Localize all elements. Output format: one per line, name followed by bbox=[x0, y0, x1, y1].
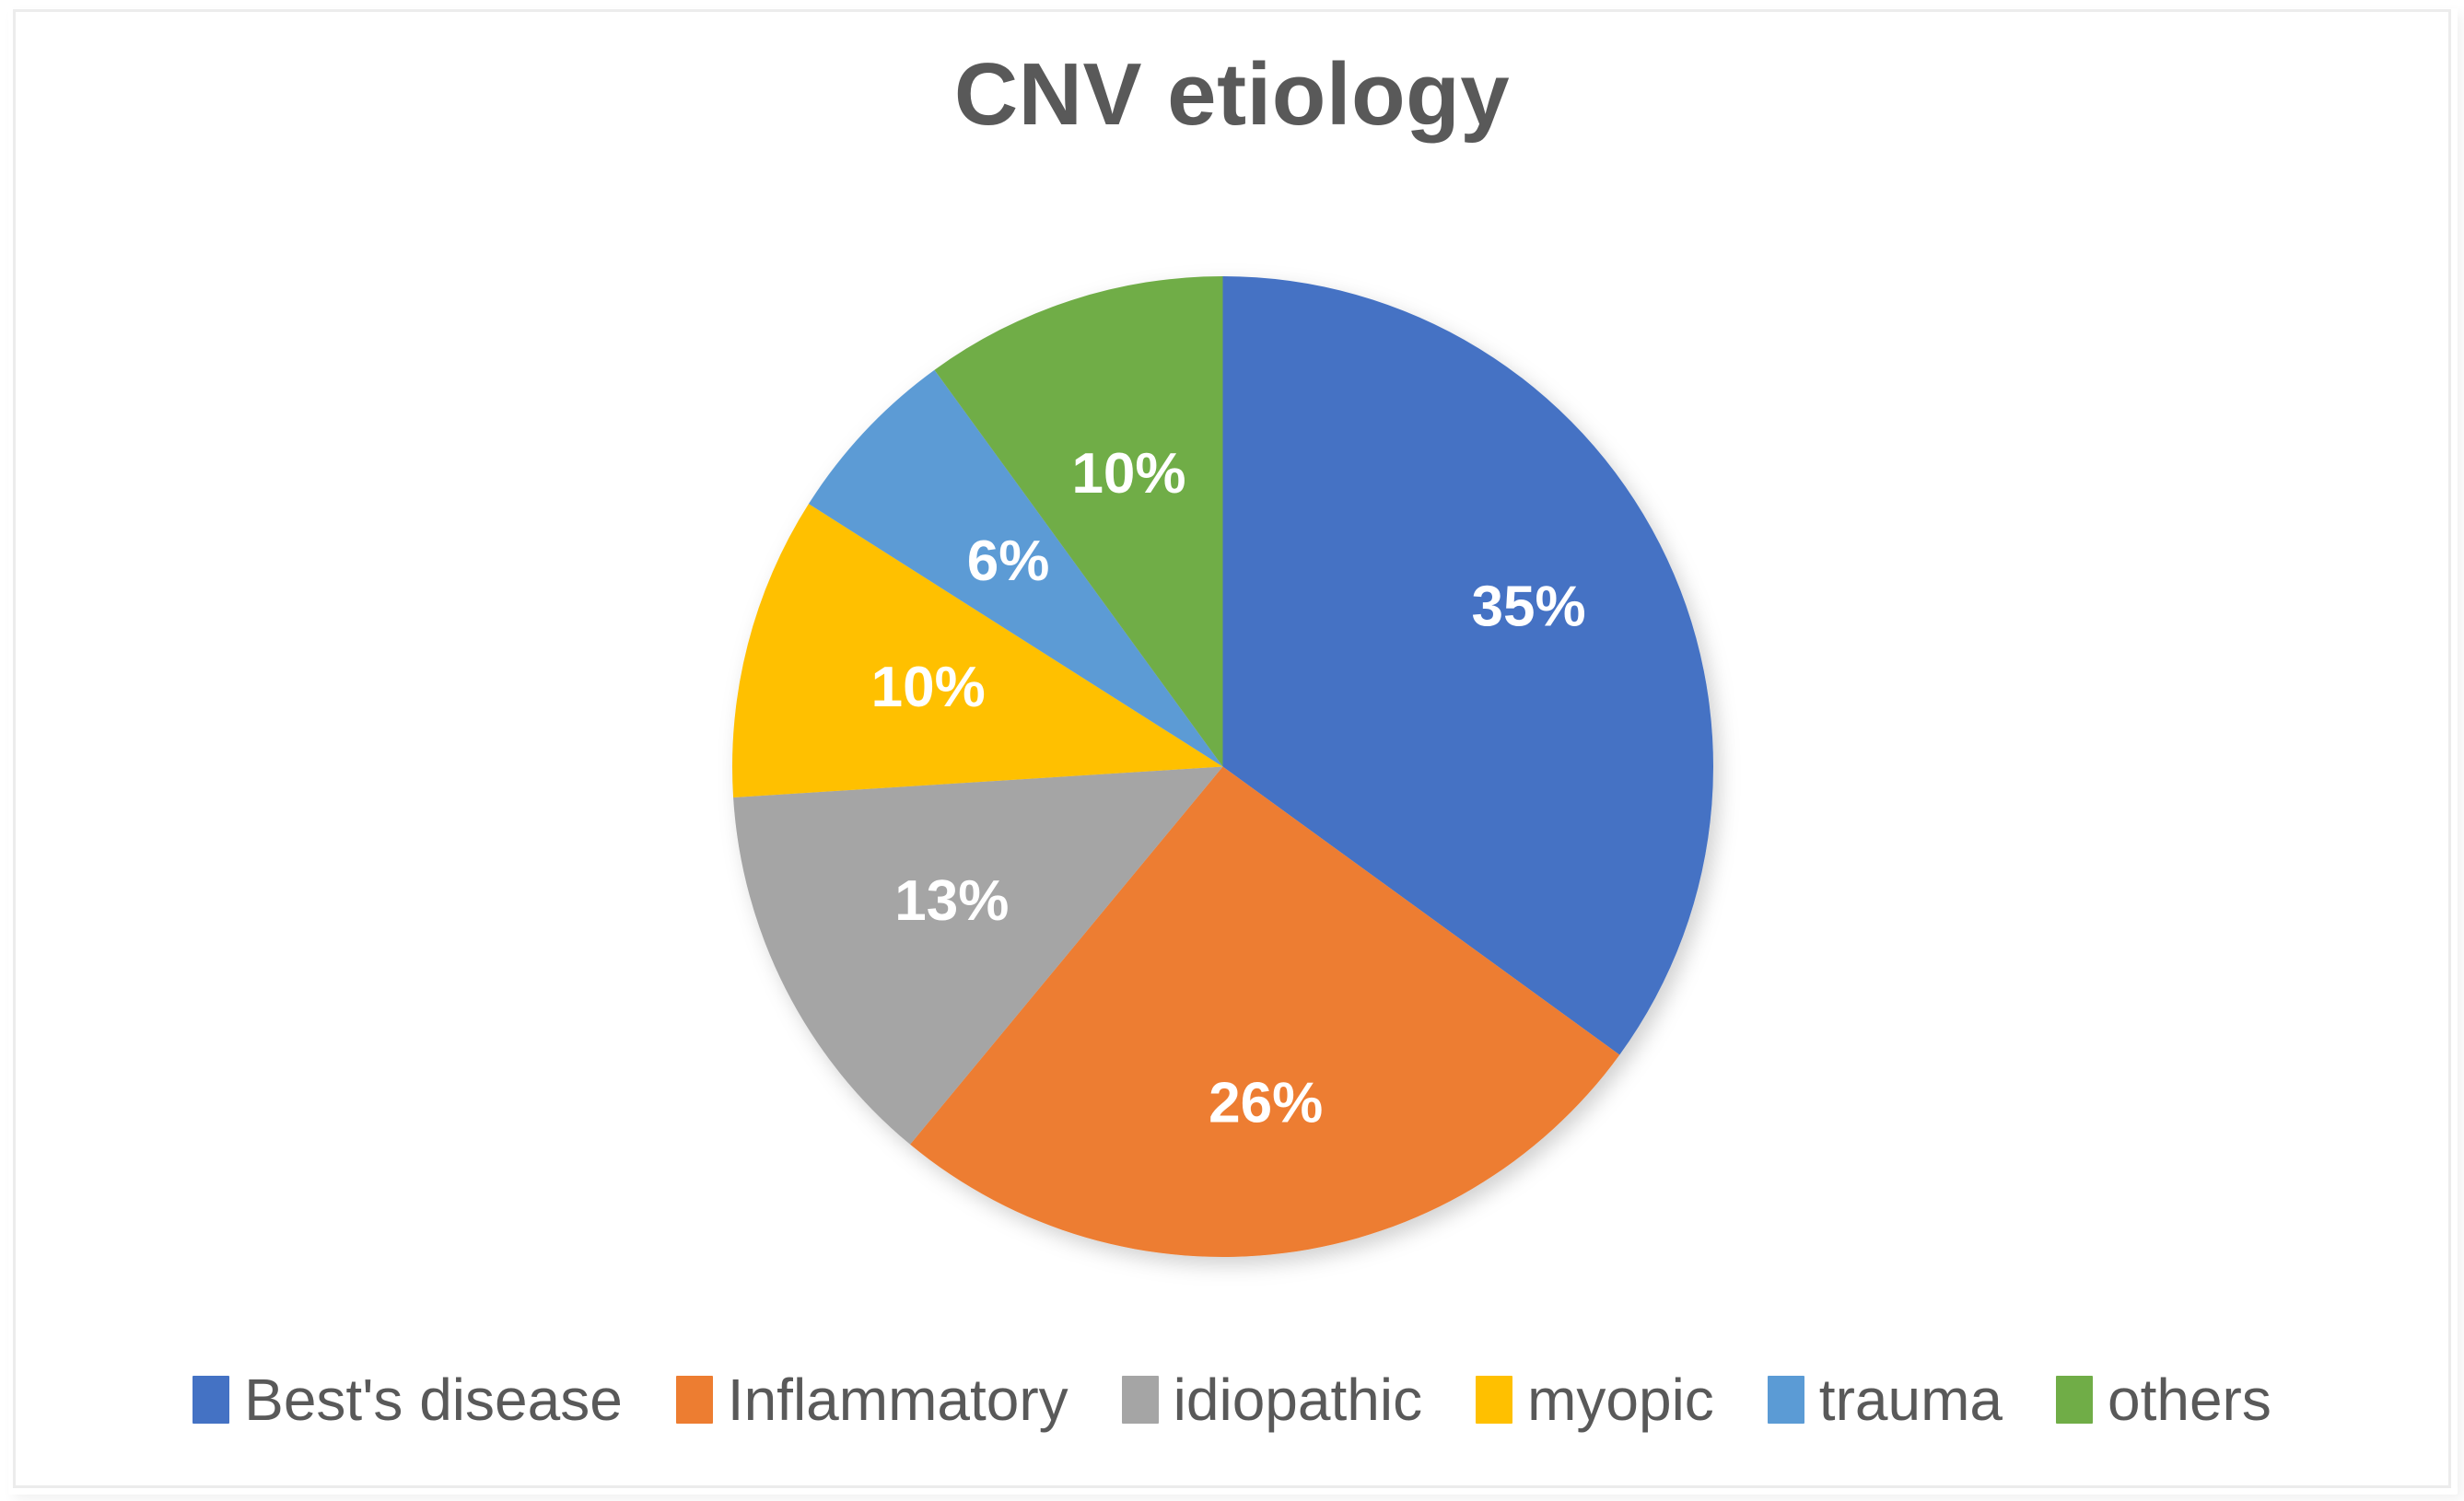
legend-item[interactable]: myopic bbox=[1476, 1370, 1714, 1429]
legend-color-swatch-icon bbox=[1768, 1376, 1804, 1424]
pie-svg: 35%26%13%10%6%10% bbox=[732, 276, 1713, 1257]
legend-item-label: myopic bbox=[1527, 1370, 1714, 1429]
legend-color-swatch-icon bbox=[193, 1376, 229, 1424]
legend-color-swatch-icon bbox=[1122, 1376, 1159, 1424]
legend-item-label: Inflammatory bbox=[728, 1370, 1069, 1429]
legend-item[interactable]: trauma bbox=[1768, 1370, 2003, 1429]
legend-item-label: others bbox=[2108, 1370, 2271, 1429]
legend-item-label: Best's disease bbox=[244, 1370, 623, 1429]
pie-chart-area: 35%26%13%10%6%10% bbox=[732, 276, 1713, 1257]
legend-color-swatch-icon bbox=[2056, 1376, 2093, 1424]
pie-slice-label: 10% bbox=[1071, 442, 1185, 506]
legend-item-label: trauma bbox=[1819, 1370, 2003, 1429]
pie-slice-label: 6% bbox=[967, 529, 1050, 593]
legend-color-swatch-icon bbox=[676, 1376, 713, 1424]
chart-legend: Best's diseaseInflammatoryidiopathicmyop… bbox=[0, 1370, 2464, 1429]
pie-slice-label: 35% bbox=[1472, 576, 1586, 639]
pie-chart-figure: CNV etiology 35%26%13%10%6%10% Best's di… bbox=[0, 0, 2464, 1501]
legend-item-label: idiopathic bbox=[1174, 1370, 1422, 1429]
chart-title: CNV etiology bbox=[0, 44, 2464, 145]
legend-color-swatch-icon bbox=[1476, 1376, 1512, 1424]
pie-slice-label: 26% bbox=[1209, 1072, 1323, 1135]
legend-item[interactable]: Inflammatory bbox=[676, 1370, 1069, 1429]
pie-slice-label: 13% bbox=[894, 869, 1009, 933]
pie-slice-label: 10% bbox=[871, 656, 986, 719]
legend-item[interactable]: others bbox=[2056, 1370, 2271, 1429]
legend-item[interactable]: Best's disease bbox=[193, 1370, 623, 1429]
legend-item[interactable]: idiopathic bbox=[1122, 1370, 1422, 1429]
